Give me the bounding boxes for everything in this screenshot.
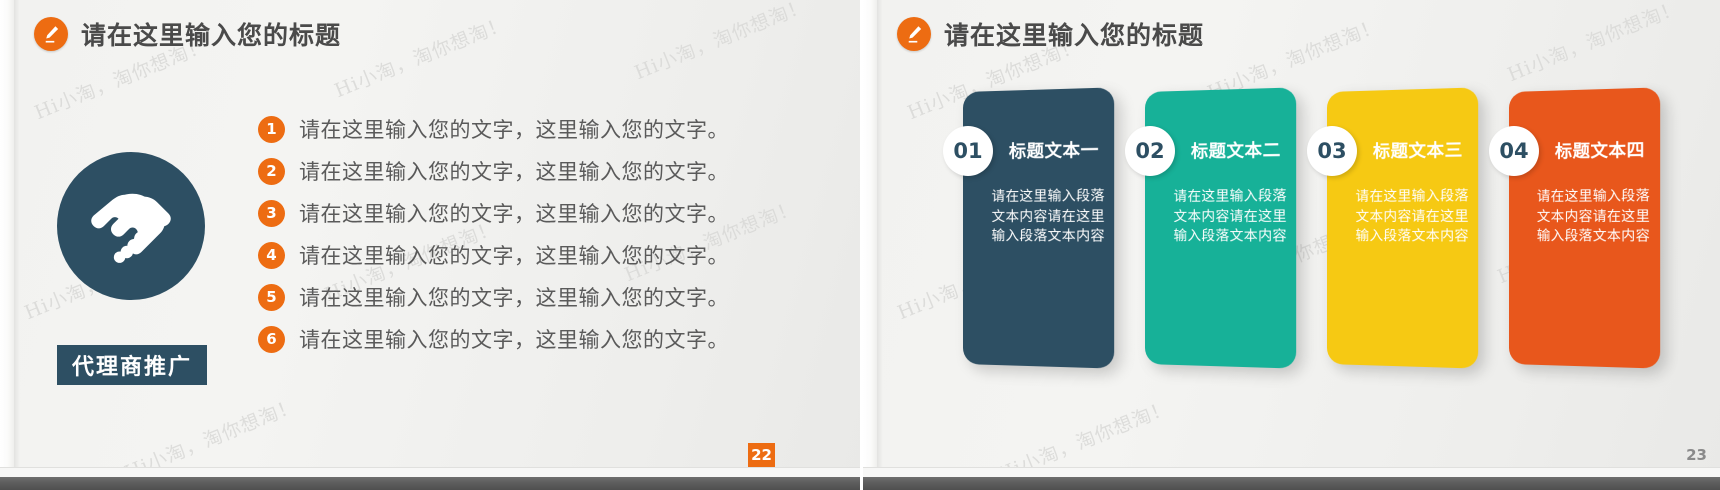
card-04[interactable]: 标题文本四 请在这里输入段落文本内容请在这里输入段落文本内容 04 (1509, 92, 1657, 364)
list-item[interactable]: 1 请在这里输入您的文字，这里输入您的文字。 (258, 114, 729, 144)
bullet-text: 请在这里输入您的文字，这里输入您的文字。 (299, 282, 729, 312)
pencil-circle-icon (897, 17, 931, 51)
card-title: 标题文本三 (1373, 135, 1463, 162)
slide-bottom-bar (0, 477, 860, 490)
bullet-number: 5 (258, 284, 285, 311)
bullet-number: 2 (258, 158, 285, 185)
card-number-badge: 01 (943, 126, 993, 176)
tag-label-box: 代理商推广 (57, 345, 207, 385)
card-number-badge: 03 (1307, 126, 1357, 176)
slide-left-edge-shadow (877, 0, 883, 490)
bullet-number: 4 (258, 242, 285, 269)
tag-label-text: 代理商推广 (72, 349, 192, 381)
bullet-number: 6 (258, 326, 285, 353)
list-item[interactable]: 5 请在这里输入您的文字，这里输入您的文字。 (258, 282, 729, 312)
slide-deck: Hi小淘，淘你想淘！ Hi小淘，淘你想淘！ Hi小淘，淘你想淘！ Hi小淘，淘你… (0, 0, 1720, 490)
watermark: Hi小淘，淘你想淘！ (630, 0, 811, 85)
card-panel: 标题文本四 请在这里输入段落文本内容请在这里输入段落文本内容 (1509, 87, 1660, 368)
list-item[interactable]: 6 请在这里输入您的文字，这里输入您的文字。 (258, 324, 729, 354)
card-01[interactable]: 标题文本一 请在这里输入段落文本内容请在这里输入段落文本内容 01 (963, 92, 1111, 364)
slide-bottom-bar (863, 477, 1720, 490)
slide-header: 请在这里输入您的标题 (34, 16, 341, 52)
card-panel: 标题文本一 请在这里输入段落文本内容请在这里输入段落文本内容 (963, 87, 1114, 368)
watermark: Hi小淘，淘你想淘！ (1503, 0, 1684, 87)
card-number-badge: 02 (1125, 126, 1175, 176)
handshake-icon (57, 152, 205, 300)
card-title: 标题文本二 (1191, 135, 1281, 162)
watermark: Hi小淘，淘你想淘！ (330, 9, 511, 103)
card-panel: 标题文本二 请在这里输入段落文本内容请在这里输入段落文本内容 (1145, 87, 1296, 368)
card-body: 请在这里输入段落文本内容请在这里输入段落文本内容 (1173, 187, 1288, 248)
slide-left-edge (863, 0, 877, 490)
slide-23: Hi小淘，淘你想淘！ Hi小淘，淘你想淘！ Hi小淘，淘你想淘！ Hi小淘，淘你… (860, 0, 1720, 490)
bullet-text: 请在这里输入您的文字，这里输入您的文字。 (299, 198, 729, 228)
card-panel: 标题文本三 请在这里输入段落文本内容请在这里输入段落文本内容 (1327, 87, 1478, 368)
bullet-text: 请在这里输入您的文字，这里输入您的文字。 (299, 240, 729, 270)
list-item[interactable]: 4 请在这里输入您的文字，这里输入您的文字。 (258, 240, 729, 270)
bullet-text: 请在这里输入您的文字，这里输入您的文字。 (299, 324, 729, 354)
list-item[interactable]: 2 请在这里输入您的文字，这里输入您的文字。 (258, 156, 729, 186)
slide-header: 请在这里输入您的标题 (897, 16, 1204, 52)
list-item[interactable]: 3 请在这里输入您的文字，这里输入您的文字。 (258, 198, 729, 228)
bullet-text: 请在这里输入您的文字，这里输入您的文字。 (299, 114, 729, 144)
card-title: 标题文本四 (1555, 135, 1645, 162)
bullet-number: 3 (258, 200, 285, 227)
bullet-number: 1 (258, 116, 285, 143)
slide-left-edge-shadow (14, 0, 20, 490)
page-number-badge: 22 (748, 443, 775, 467)
card-body: 请在这里输入段落文本内容请在这里输入段落文本内容 (1537, 187, 1652, 248)
card-03[interactable]: 标题文本三 请在这里输入段落文本内容请在这里输入段落文本内容 03 (1327, 92, 1475, 364)
slide-left-edge (0, 0, 14, 490)
page-title: 请在这里输入您的标题 (944, 16, 1204, 52)
page-number-badge: 23 (1683, 443, 1710, 467)
bullet-text: 请在这里输入您的文字，这里输入您的文字。 (299, 156, 729, 186)
pencil-circle-icon (34, 17, 68, 51)
page-title: 请在这里输入您的标题 (81, 16, 341, 52)
card-title: 标题文本一 (1009, 135, 1099, 162)
bullet-list: 1 请在这里输入您的文字，这里输入您的文字。 2 请在这里输入您的文字，这里输入… (258, 114, 729, 354)
card-body: 请在这里输入段落文本内容请在这里输入段落文本内容 (991, 187, 1106, 248)
card-02[interactable]: 标题文本二 请在这里输入段落文本内容请在这里输入段落文本内容 02 (1145, 92, 1293, 364)
card-number-badge: 04 (1489, 126, 1539, 176)
slide-22: Hi小淘，淘你想淘！ Hi小淘，淘你想淘！ Hi小淘，淘你想淘！ Hi小淘，淘你… (0, 0, 860, 490)
card-body: 请在这里输入段落文本内容请在这里输入段落文本内容 (1355, 187, 1470, 248)
